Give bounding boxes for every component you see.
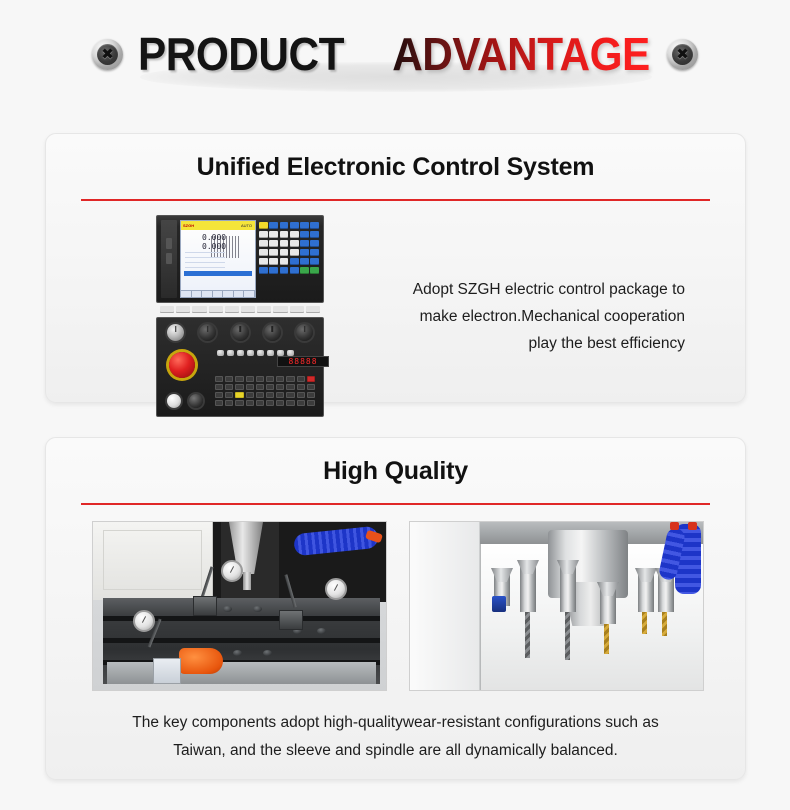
cnc-softkey-bar	[181, 290, 255, 297]
cnc-screen-highlight-bar	[184, 271, 252, 276]
cnc-screen-rows	[185, 252, 225, 270]
cnc-cycle-start-button	[167, 394, 181, 408]
card-unified-electronic-control-system: Unified Electronic Control System SZGH A…	[45, 133, 746, 403]
quality-caption-line-2: Taiwan, and the sleeve and spindle are a…	[91, 737, 700, 765]
cnc-led-readout: 88888	[277, 356, 329, 367]
cnc-keypad	[259, 220, 319, 298]
cnc-screen-body: 0.000 0.000	[181, 230, 255, 290]
photo1-magnetic-base	[193, 596, 217, 616]
photo1-table-hole	[317, 628, 326, 634]
banner-content: ✖ PRODUCT ADVANTAGE ✖	[92, 31, 698, 77]
photo1-dial-indicator	[221, 560, 243, 582]
photo1-magnetic-base-front	[153, 658, 181, 684]
photo2-tool-holder	[560, 560, 576, 612]
screw-inner-right: ✖	[672, 44, 693, 65]
photo2-holder-cone	[557, 560, 579, 574]
cnc-key-row-1	[259, 222, 319, 229]
product-advantage-page: ✖ PRODUCT ADVANTAGE ✖ Unified Electronic…	[0, 0, 790, 810]
cnc-knob-feed-override	[232, 324, 249, 341]
photo1-dial-indicator	[133, 610, 155, 632]
cnc-operation-panel: 88888	[156, 317, 324, 417]
cnc-function-key-row	[156, 303, 324, 313]
photo1-table-slot-2	[103, 638, 380, 643]
cnc-emergency-stop-button	[169, 352, 195, 378]
photo2-drill-bit	[525, 612, 530, 658]
cnc-key-row-3	[259, 240, 319, 247]
photo2-end-mill	[642, 612, 647, 634]
photo1-table-hole	[233, 650, 242, 656]
cnc-display-unit: SZGH AUTO 0.000 0.000	[156, 215, 324, 303]
cnc-key-row-2	[259, 231, 319, 238]
cnc-screen-titlebar: SZGH AUTO	[181, 221, 255, 230]
cnc-key-row-4	[259, 249, 319, 256]
photo2-tool-holder	[638, 568, 654, 612]
photo2-nozzle-tip	[688, 522, 697, 530]
photo2-holder-cone	[635, 568, 657, 582]
photo1-table-hole	[253, 606, 262, 612]
photo1-table-hole	[223, 606, 232, 612]
control-description-line-2: make electron.Mechanical cooperation	[346, 303, 685, 330]
photo2-holder-cone	[491, 568, 513, 582]
page-title-advantage: ADVANTAGE	[390, 31, 651, 77]
section-title-high-quality: High Quality	[46, 457, 745, 486]
photo2-end-mill	[604, 624, 609, 654]
control-system-description: Adopt SZGH electric control package to m…	[346, 276, 715, 357]
photo1-tool-holder	[243, 572, 251, 590]
page-banner: ✖ PRODUCT ADVANTAGE ✖	[0, 0, 790, 108]
photo2-tool-holder	[600, 582, 616, 624]
screw-x-icon-left: ✖	[92, 39, 123, 70]
photo1-table-front-edge	[107, 662, 376, 684]
cnc-knob-row	[163, 324, 317, 341]
photo-machine-table	[92, 521, 387, 691]
photo1-magnetic-base	[279, 610, 303, 630]
photo2-blue-tool-holder	[492, 596, 506, 612]
cnc-knob-spindle-override	[296, 324, 313, 341]
photo1-dial-indicator	[325, 578, 347, 600]
cnc-lcd-screen: SZGH AUTO 0.000 0.000	[180, 220, 256, 298]
cnc-knob-rapid-override	[264, 324, 281, 341]
quality-caption-line-1: The key components adopt high-qualitywea…	[91, 709, 700, 737]
cnc-side-ports	[161, 220, 177, 298]
photo1-machine-enclosure	[93, 522, 213, 600]
cnc-brand-label: SZGH	[183, 223, 194, 228]
screw-x-icon-right: ✖	[667, 39, 698, 70]
high-quality-photo-row	[46, 505, 745, 691]
cnc-knob-mode	[199, 324, 216, 341]
photo2-holder-cone	[517, 560, 539, 574]
cnc-key-row-5	[259, 258, 319, 265]
section-title-control-system: Unified Electronic Control System	[46, 153, 745, 182]
x-glyph-right: ✖	[676, 47, 689, 62]
control-system-row: SZGH AUTO 0.000 0.000	[46, 201, 745, 417]
photo1-table-hole	[263, 650, 272, 656]
control-description-line-1: Adopt SZGH electric control package to	[346, 276, 685, 303]
screw-inner-left: ✖	[97, 44, 118, 65]
cnc-cycle-stop-button	[189, 394, 203, 408]
photo2-tool-holder	[520, 560, 536, 612]
cnc-mode-label: AUTO	[241, 223, 252, 228]
photo1-orange-coolant-nozzle	[179, 648, 223, 674]
photo2-machine-cabinet	[410, 522, 480, 691]
cnc-key-row-6	[259, 267, 319, 274]
photo2-drill-bit	[565, 612, 570, 660]
photo-tool-magazine	[409, 521, 704, 691]
photo2-holder-cone	[597, 582, 619, 596]
page-title-product: PRODUCT	[136, 31, 346, 77]
card-high-quality: High Quality	[45, 437, 746, 780]
x-glyph-left: ✖	[101, 47, 114, 62]
cnc-control-panel-image: SZGH AUTO 0.000 0.000	[156, 215, 324, 417]
photo2-nozzle-tip-secondary	[670, 522, 679, 530]
high-quality-caption: The key components adopt high-qualitywea…	[46, 691, 745, 765]
cnc-button-matrix	[215, 376, 315, 406]
cnc-knob-power	[167, 324, 184, 341]
photo2-end-mill	[662, 612, 667, 636]
control-description-line-3: play the best efficiency	[346, 330, 685, 357]
